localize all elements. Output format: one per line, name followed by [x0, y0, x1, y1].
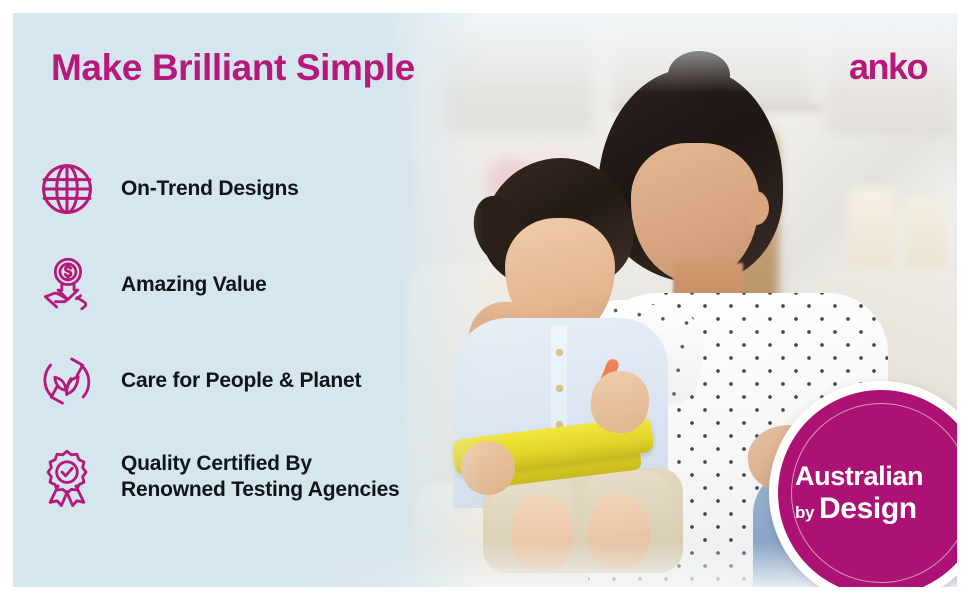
feature-label: Quality Certified By Renowned Testing Ag… — [121, 451, 400, 502]
badge-line-2: byDesign — [795, 493, 949, 525]
feature-list: On-Trend Designs Amazing Value — [35, 141, 465, 525]
feature-item-care-for-people-planet: Care for People & Planet — [35, 333, 465, 429]
feature-label-line1: Quality Certified By — [121, 452, 312, 475]
feature-item-amazing-value: Amazing Value — [35, 237, 465, 333]
feature-label: On-Trend Designs — [121, 176, 299, 202]
feature-label-line2: Renowned Testing Agencies — [121, 478, 400, 501]
feature-label: Care for People & Planet — [121, 368, 361, 394]
feature-label: Amazing Value — [121, 272, 267, 298]
badge-text: Australian byDesign — [769, 381, 957, 587]
recycle-leaf-icon — [35, 349, 99, 413]
australian-by-design-badge: Australian byDesign — [769, 381, 957, 587]
feature-item-on-trend-designs: On-Trend Designs — [35, 141, 465, 237]
shirt-button — [556, 385, 563, 392]
badge-design-word: Design — [819, 492, 917, 525]
woman-ear — [743, 191, 769, 225]
feature-item-quality-certified: Quality Certified By Renowned Testing Ag… — [35, 429, 465, 525]
hand-coin-icon — [35, 253, 99, 317]
badge-by-word: by — [795, 503, 814, 522]
page-title: Make Brilliant Simple — [51, 47, 415, 89]
banner: Make Brilliant Simple anko On-Trend Desi… — [13, 13, 957, 587]
badge-line-1: Australian — [795, 462, 949, 490]
globe-icon — [35, 157, 99, 221]
anko-logo: anko — [849, 49, 927, 85]
award-badge-icon — [35, 445, 99, 509]
shirt-button — [556, 349, 563, 356]
